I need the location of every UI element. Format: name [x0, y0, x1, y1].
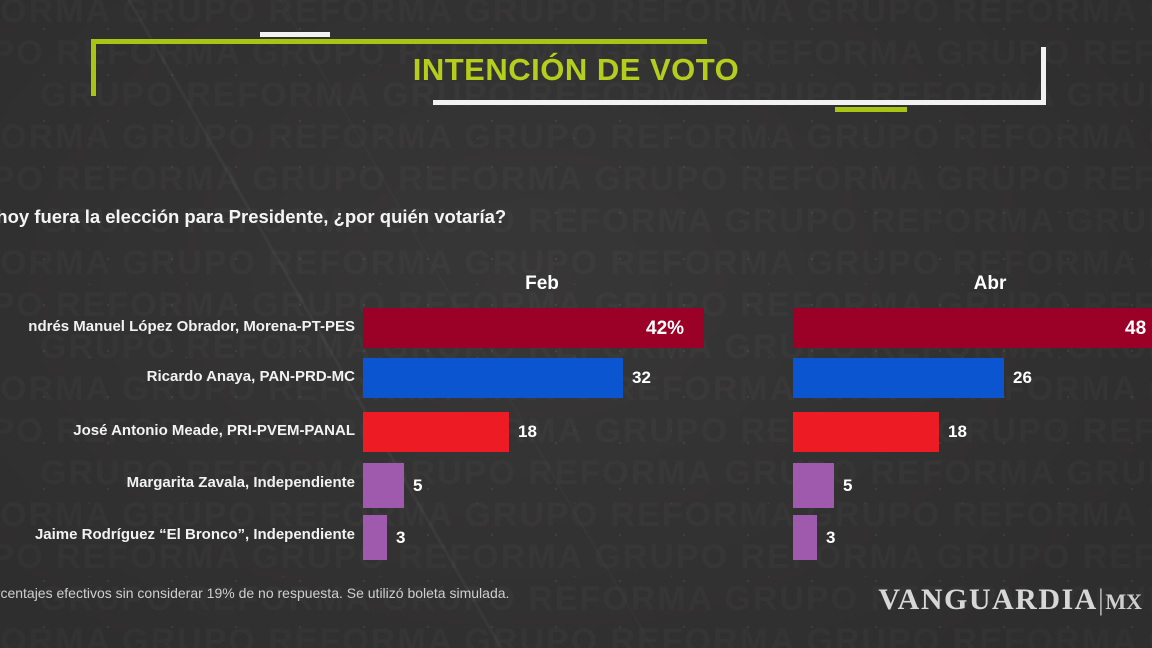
bar-feb-3 [363, 412, 509, 452]
candidate-label: Margarita Zavala, Independiente [0, 474, 355, 491]
vote-intention-bar-chart: Feb Abr ndrés Manuel López Obrador, More… [0, 0, 1152, 648]
bar-feb-5 [363, 515, 387, 560]
bar-abr-1 [793, 308, 1152, 348]
bar-abr-3 [793, 412, 939, 452]
vanguardia-logo: VANGUARDIA|MX [878, 583, 1142, 617]
column-header-feb: Feb [482, 273, 602, 295]
value-label-feb-2: 32 [632, 368, 651, 388]
value-label-abr-5: 3 [826, 528, 835, 548]
bar-abr-2 [793, 358, 1004, 398]
candidate-label: ndrés Manuel López Obrador, Morena-PT-PE… [0, 318, 355, 335]
candidate-label: Jaime Rodríguez “El Bronco”, Independien… [0, 526, 355, 543]
value-label-feb-5: 3 [396, 528, 405, 548]
bar-feb-2 [363, 358, 623, 398]
value-label-abr-2: 26 [1013, 368, 1032, 388]
column-header-abr: Abr [930, 273, 1050, 295]
bar-abr-5 [793, 515, 817, 560]
candidate-label: José Antonio Meade, PRI-PVEM-PANAL [0, 422, 355, 439]
candidate-label: Ricardo Anaya, PAN-PRD-MC [0, 368, 355, 385]
value-label-abr-4: 5 [843, 476, 852, 496]
bar-abr-4 [793, 463, 834, 508]
slide-canvas: GRUPO REFORMA GRUPO REFORMA GRUPO REFORM… [0, 0, 1152, 648]
value-label-feb-3: 18 [518, 422, 537, 442]
chart-footnote: orcentajes efectivos sin considerar 19% … [0, 585, 509, 601]
brand-suffix: MX [1105, 589, 1142, 614]
value-label-abr-3: 18 [948, 422, 967, 442]
value-label-abr-1: 48 [1125, 318, 1146, 340]
value-label-feb-1: 42% [646, 318, 684, 340]
bar-feb-4 [363, 463, 404, 508]
brand-name: VANGUARDIA [878, 583, 1097, 616]
value-label-feb-4: 5 [413, 476, 422, 496]
